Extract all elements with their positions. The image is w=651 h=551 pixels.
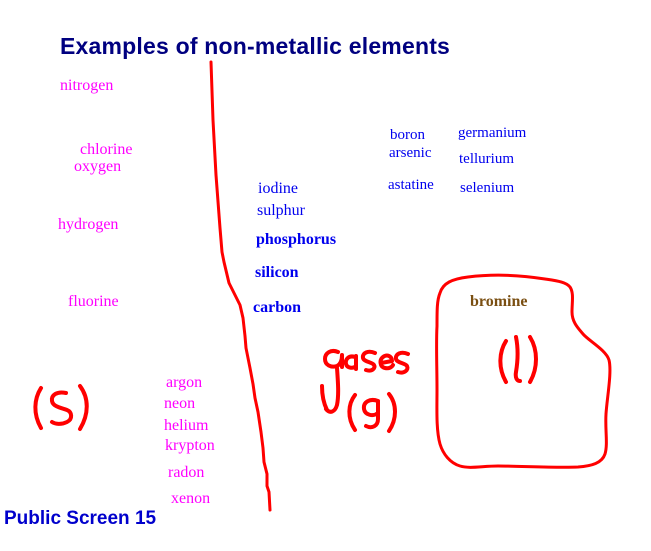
page-title: Examples of non-metallic elements [60, 33, 450, 60]
liquid-state-annotation-left-paren [500, 341, 506, 382]
element-label-tellurium: tellurium [459, 152, 514, 167]
gases-annotation-letter-s2 [396, 353, 408, 373]
element-label-krypton: krypton [165, 438, 215, 454]
solid-state-annotation-left-paren [35, 388, 41, 428]
gases-annotation-letter-e [381, 356, 393, 369]
gases-annotation-letter-g [325, 351, 342, 367]
element-label-bromine: bromine [470, 294, 527, 310]
gas-state-annotation-left-paren [349, 395, 355, 430]
element-label-arsenic: arsenic [389, 146, 431, 161]
element-label-fluorine: fluorine [68, 294, 119, 310]
element-label-astatine: astatine [388, 178, 434, 193]
element-label-sulphur: sulphur [257, 203, 305, 219]
element-label-oxygen: oxygen [74, 159, 121, 175]
gas-state-annotation-letter-g [364, 400, 378, 427]
gases-arrow-head-icon [322, 386, 327, 410]
element-label-selenium: selenium [460, 181, 514, 196]
footer-screen-label: Public Screen 15 [4, 508, 156, 530]
gases-annotation-letter-a [346, 356, 356, 369]
divider-line-icon [211, 62, 270, 510]
element-label-neon: neon [164, 396, 195, 412]
element-label-radon: radon [168, 465, 204, 481]
liquid-state-annotation-right-paren [530, 337, 536, 382]
gas-state-annotation-right-paren [389, 394, 395, 431]
solid-state-annotation-letter-s [52, 392, 71, 423]
liquid-state-annotation-letter-l [516, 337, 520, 381]
element-label-carbon: carbon [253, 300, 301, 316]
element-label-phosphorus: phosphorus [256, 232, 336, 248]
element-label-helium: helium [164, 418, 208, 434]
element-label-iodine: iodine [258, 181, 298, 197]
element-label-nitrogen: nitrogen [60, 78, 113, 94]
element-label-hydrogen: hydrogen [58, 217, 118, 233]
element-label-boron: boron [390, 128, 425, 143]
element-label-silicon: silicon [255, 265, 299, 281]
element-label-xenon: xenon [171, 491, 210, 507]
element-label-germanium: germanium [458, 126, 526, 141]
gases-arrow-icon [326, 368, 338, 412]
element-label-chlorine: chlorine [80, 142, 132, 158]
slide-canvas: Examples of non-metallic elements nitrog… [0, 0, 651, 551]
element-label-argon: argon [166, 375, 202, 391]
solid-state-annotation-right-paren [80, 386, 87, 429]
gases-annotation-letter-s1 [363, 352, 375, 371]
